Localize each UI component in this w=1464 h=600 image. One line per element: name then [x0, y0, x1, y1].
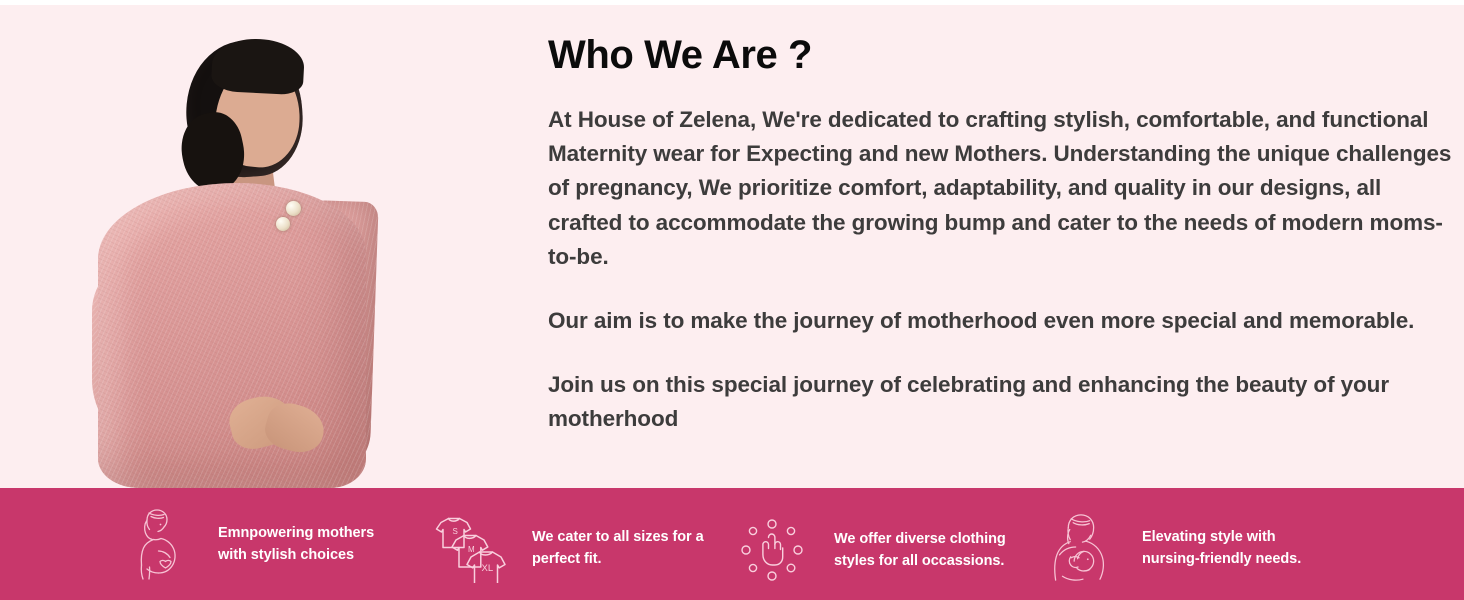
model-poncho — [98, 183, 366, 488]
about-paragraph-2: Our aim is to make the journey of mother… — [548, 304, 1460, 338]
hero-panel: Who We Are ? At House of Zelena, We're d… — [0, 5, 1464, 488]
tshirt-sizes-icon: S M XL — [432, 508, 508, 588]
feature-banner: Emnpowering mothers with stylish choices… — [0, 488, 1464, 600]
pearl-brooch-icon — [286, 201, 301, 216]
feature-label: We offer diverse clothing styles for all… — [834, 528, 1006, 572]
pearl-brooch-icon — [276, 217, 290, 231]
feature-item-sizes[interactable]: S M XL We cater to all sizes for a perfe… — [432, 492, 704, 600]
feature-item-styles[interactable]: We offer diverse clothing styles for all… — [734, 494, 1006, 600]
page-title: Who We Are ? — [548, 33, 1460, 77]
pointing-hand-choices-icon — [734, 510, 810, 590]
feature-item-empowering[interactable]: Emnpowering mothers with stylish choices — [118, 488, 374, 600]
nursing-mother-icon — [1042, 508, 1118, 588]
about-us-section: Who We Are ? At House of Zelena, We're d… — [0, 0, 1464, 600]
feature-item-nursing[interactable]: Elevating style with nursing-friendly ne… — [1042, 492, 1301, 600]
svg-text:M: M — [468, 545, 475, 554]
feature-label: Elevating style with nursing-friendly ne… — [1142, 526, 1301, 570]
model-photo — [90, 5, 380, 488]
pregnant-woman-icon — [118, 504, 194, 584]
model-photo-illustration — [90, 5, 380, 488]
about-paragraph-1: At House of Zelena, We're dedicated to c… — [548, 103, 1460, 274]
feature-label: We cater to all sizes for a perfect fit. — [532, 526, 704, 570]
svg-text:S: S — [453, 527, 458, 536]
model-hair-top — [211, 37, 306, 96]
about-text-column: Who We Are ? At House of Zelena, We're d… — [548, 33, 1460, 437]
feature-label: Emnpowering mothers with stylish choices — [218, 522, 374, 566]
about-paragraph-3: Join us on this special journey of celeb… — [548, 368, 1460, 436]
svg-text:XL: XL — [482, 563, 494, 574]
